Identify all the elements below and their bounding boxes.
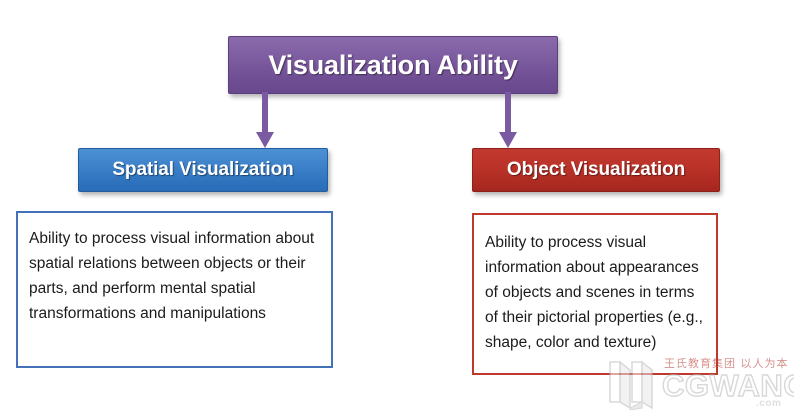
branch-description-spatial: Ability to process visual information ab…	[16, 211, 333, 368]
branch-header-object-visualization: Object Visualization	[472, 148, 720, 192]
branch-header-label: Spatial Visualization	[112, 159, 293, 181]
branch-header-label: Object Visualization	[507, 159, 685, 181]
connector-arrow-to-spatial	[253, 92, 277, 150]
diagram-canvas: Visualization Ability Spatial Visualizat…	[0, 0, 794, 417]
watermark-suffix: .com	[756, 398, 781, 409]
root-node-label: Visualization Ability	[268, 50, 517, 81]
root-node-visualization-ability: Visualization Ability	[228, 36, 558, 94]
branch-description-object: Ability to process visual information ab…	[472, 213, 718, 375]
branch-header-spatial-visualization: Spatial Visualization	[78, 148, 328, 192]
connector-arrow-to-object	[496, 92, 520, 150]
branch-description-text: Ability to process visual information ab…	[485, 230, 706, 355]
down-arrow-icon	[496, 92, 520, 150]
branch-description-text: Ability to process visual information ab…	[29, 226, 319, 326]
down-arrow-icon	[253, 92, 277, 150]
